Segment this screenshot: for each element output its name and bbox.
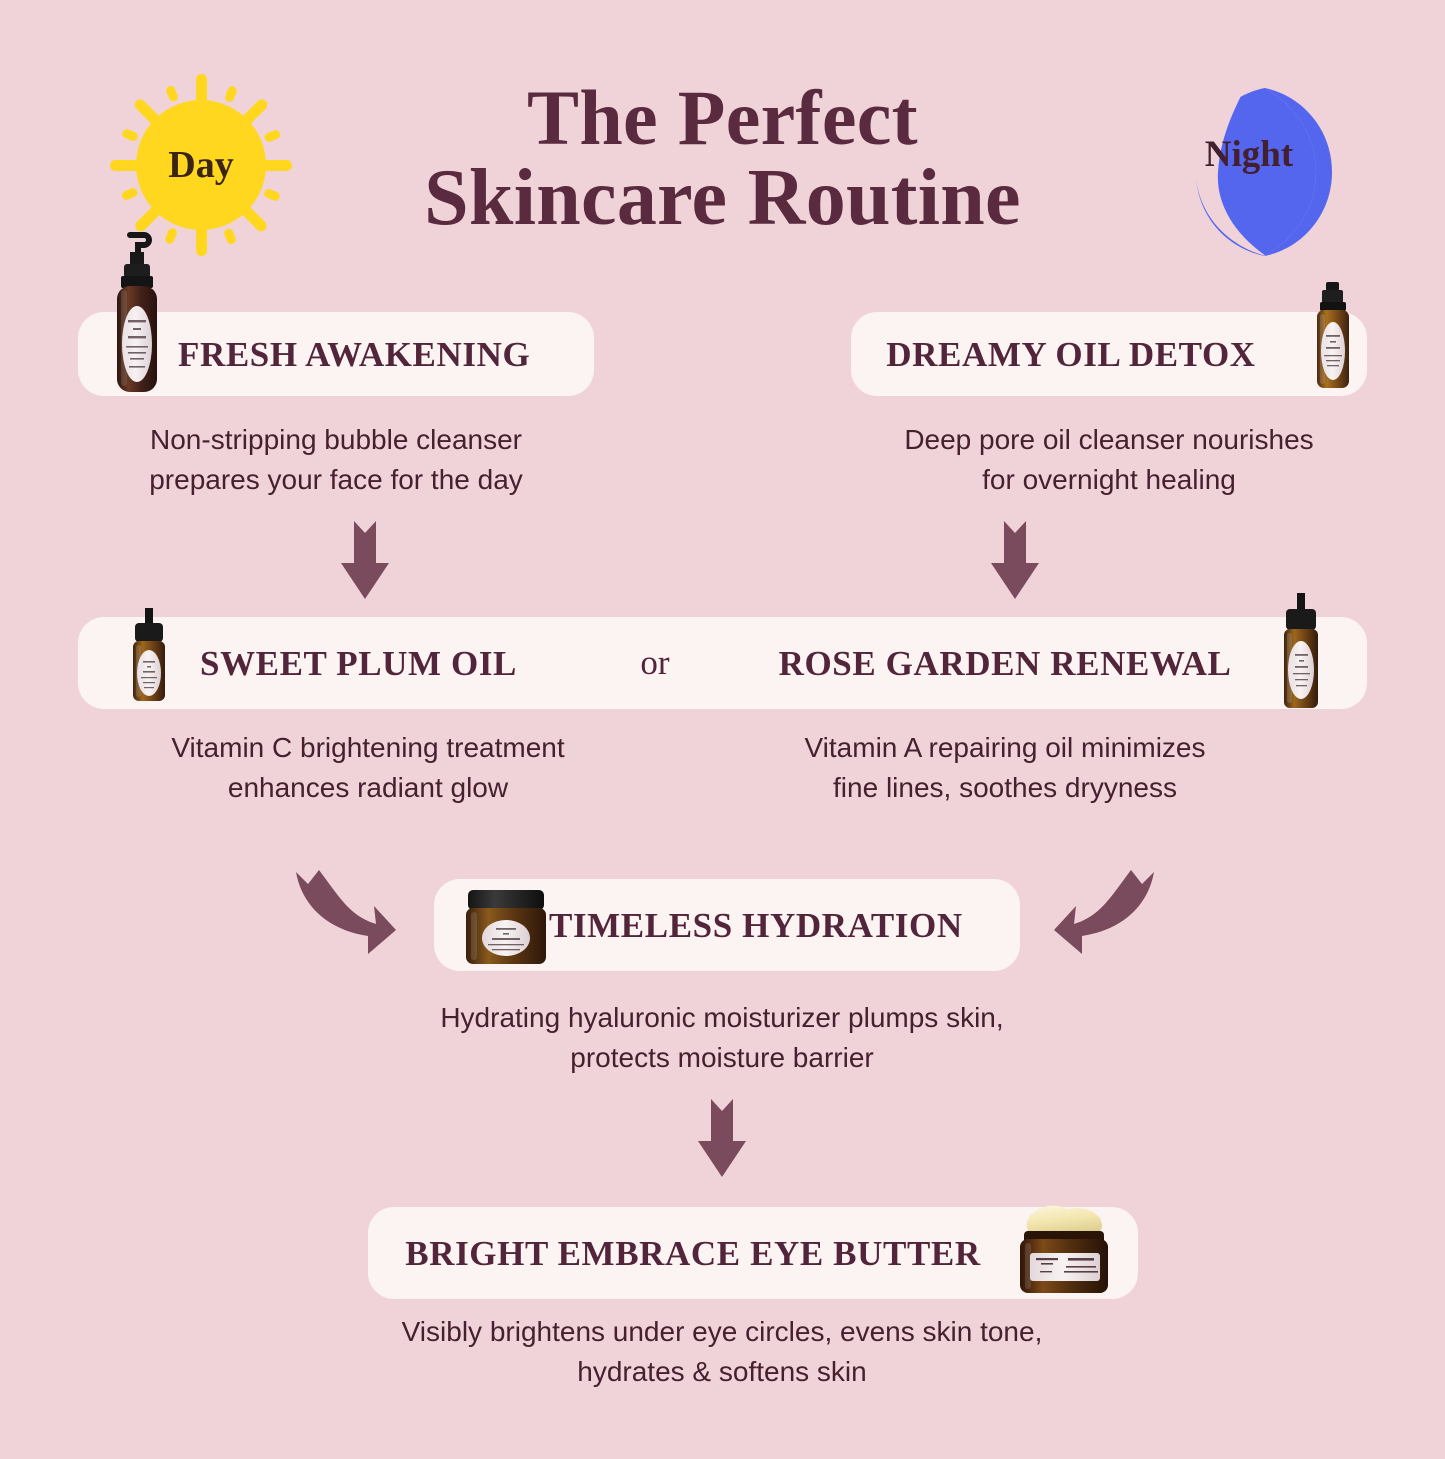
caption-line-1: Non-stripping bubble cleanser: [78, 420, 594, 460]
caption-bright-embrace-eye-butter: Visibly brightens under eye circles, eve…: [272, 1312, 1172, 1392]
card-title-sweet-plum-oil: SWEET PLUM OIL: [200, 646, 517, 681]
dropper-bottle-icon-left: [122, 607, 176, 705]
open-cream-jar-icon: [1010, 1205, 1118, 1297]
caption-line-1: Vitamin C brightening treatment: [78, 728, 658, 768]
card-dreamy-oil-detox[interactable]: DREAMY OIL DETOX: [851, 312, 1367, 396]
card-title-rose-garden-renewal: ROSE GARDEN RENEWAL: [779, 646, 1232, 681]
sun-icon: Day: [108, 72, 294, 258]
caption-timeless-hydration: Hydrating hyaluronic moisturizer plumps …: [322, 998, 1122, 1078]
skincare-routine-infographic: Day Night The Perfect Skincare Routine F…: [0, 0, 1445, 1459]
caption-line-2: protects moisture barrier: [322, 1038, 1122, 1078]
caption-rose-garden-renewal: Vitamin A repairing oil minimizes fine l…: [715, 728, 1295, 808]
card-title-rose-garden-renewal-wrap[interactable]: ROSE GARDEN RENEWAL: [760, 617, 1250, 709]
caption-line-2: prepares your face for the day: [78, 460, 594, 500]
curved-arrow-left-icon: [1052, 868, 1162, 968]
caption-dreamy-oil-detox: Deep pore oil cleanser nourishes for ove…: [851, 420, 1367, 500]
caption-line-2: fine lines, soothes dryyness: [715, 768, 1295, 808]
caption-line-2: enhances radiant glow: [78, 768, 658, 808]
card-title-dreamy-oil-detox: DREAMY OIL DETOX: [886, 337, 1255, 372]
card-title-bright-embrace-eye-butter: BRIGHT EMBRACE EYE BUTTER: [405, 1236, 980, 1271]
crescent-moon-icon: Night: [1170, 82, 1350, 262]
caption-line-1: Hydrating hyaluronic moisturizer plumps …: [322, 998, 1122, 1038]
caption-line-1: Deep pore oil cleanser nourishes: [851, 420, 1367, 460]
card-title-sweet-plum-oil-wrap[interactable]: SWEET PLUM OIL: [200, 617, 550, 709]
dropper-bottle-icon-right: [1272, 592, 1330, 712]
spray-bottle-icon: [1306, 281, 1360, 391]
pump-bottle-icon: [104, 232, 166, 396]
caption-fresh-awakening: Non-stripping bubble cleanser prepares y…: [78, 420, 594, 500]
caption-sweet-plum-oil: Vitamin C brightening treatment enhances…: [78, 728, 658, 808]
sun-disc: Day: [136, 100, 266, 230]
caption-line-2: hydrates & softens skin: [272, 1352, 1172, 1392]
curved-arrow-right-icon: [288, 868, 398, 968]
caption-line-1: Vitamin A repairing oil minimizes: [715, 728, 1295, 768]
caption-line-1: Visibly brightens under eye circles, eve…: [272, 1312, 1172, 1352]
or-label: or: [640, 643, 669, 683]
night-badge-label: Night: [1184, 136, 1314, 173]
day-badge-label: Day: [168, 146, 233, 184]
down-arrow-icon-day: [336, 519, 394, 601]
cream-jar-icon: [462, 888, 550, 968]
card-title-fresh-awakening: FRESH AWAKENING: [178, 337, 530, 372]
card-title-timeless-hydration: TIMELESS HYDRATION: [549, 908, 963, 943]
caption-line-2: for overnight healing: [851, 460, 1367, 500]
or-separator: or: [600, 617, 710, 709]
down-arrow-icon-bottom: [693, 1097, 751, 1179]
down-arrow-icon-night: [986, 519, 1044, 601]
